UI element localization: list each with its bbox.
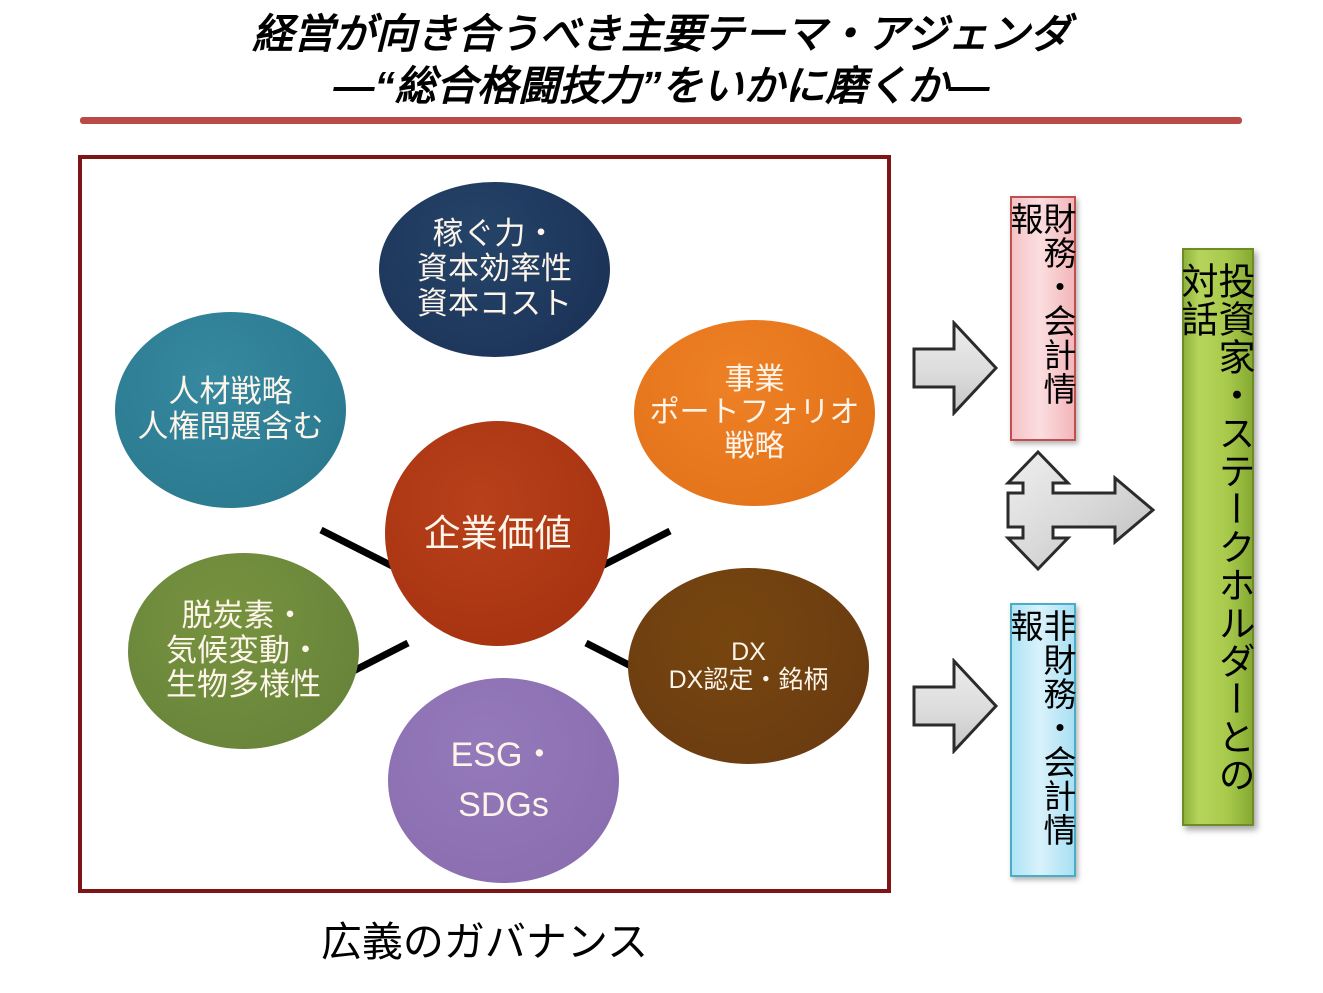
node-earning-power[interactable]: 稼ぐ力・資本効率性資本コスト [379, 182, 610, 357]
node-business-portfolio[interactable]: 事業ポートフォリオ戦略 [634, 320, 875, 506]
financial-info-label: 財務・会計情報 [1008, 202, 1074, 439]
title-line-2: ―“総合格闘技力”をいかに磨くか― [0, 60, 1323, 112]
node-dx[interactable]: DXDX認定・銘柄 [628, 568, 869, 764]
node-decarbonization[interactable]: 脱炭素・気候変動・生物多様性 [128, 553, 359, 749]
node-business-portfolio-label: 事業ポートフォリオ戦略 [644, 363, 866, 464]
node-corporate-value-label: 企業価値 [418, 513, 578, 554]
page-title: 経営が向き合うべき主要テーマ・アジェンダ ―“総合格闘技力”をいかに磨くか― [0, 8, 1323, 113]
right-arrow-icon-bottom [910, 658, 1000, 754]
slide-canvas: 経営が向き合うべき主要テーマ・アジェンダ ―“総合格闘技力”をいかに磨くか― 稼… [0, 0, 1323, 993]
node-corporate-value[interactable]: 企業価値 [385, 421, 610, 646]
nonfinancial-info-box[interactable]: 非財務・会計情報 [1010, 603, 1076, 877]
node-hr-strategy[interactable]: 人材戦略人権問題含む [115, 312, 346, 508]
nonfinancial-info-label: 非財務・会計情報 [1008, 609, 1074, 875]
right-arrow-icon-top [910, 320, 1000, 416]
title-divider-rule [80, 117, 1242, 124]
stakeholder-dialogue-box[interactable]: 投資家・ステークホルダーとの対話 [1182, 248, 1254, 826]
stakeholder-dialogue-label: 投資家・ステークホルダーとの対話 [1178, 262, 1252, 824]
three-way-arrow-icon [990, 448, 1160, 588]
title-line-1: 経営が向き合うべき主要テーマ・アジェンダ [0, 8, 1323, 60]
node-hr-strategy-label: 人材戦略人権問題含む [132, 375, 330, 444]
financial-info-box[interactable]: 財務・会計情報 [1010, 196, 1076, 441]
node-earning-power-label: 稼ぐ力・資本効率性資本コスト [411, 217, 578, 321]
node-esg-sdgs-label: ESG・SDGs [445, 731, 563, 830]
node-esg-sdgs[interactable]: ESG・SDGs [388, 678, 619, 883]
node-dx-label: DXDX認定・銘柄 [663, 638, 835, 694]
governance-caption: 広義のガバナンス [78, 908, 891, 968]
node-decarbonization-label: 脱炭素・気候変動・生物多様性 [160, 599, 327, 703]
